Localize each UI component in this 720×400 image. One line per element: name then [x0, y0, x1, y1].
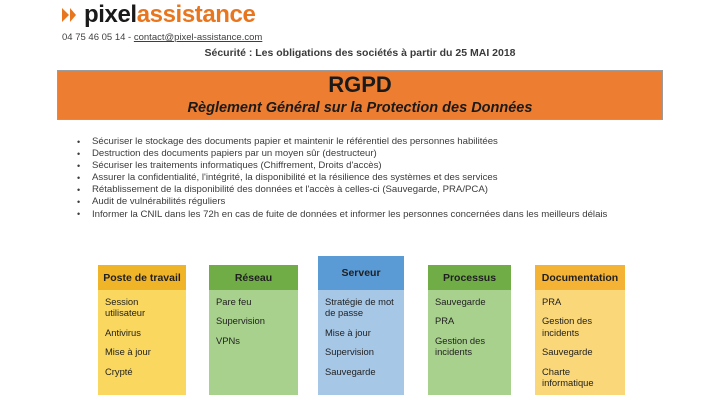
category-item: Supervision [325, 346, 397, 357]
category-column-body: Pare feuSupervisionVPNs [209, 290, 298, 395]
obligation-item: Sécuriser le stockage des documents papi… [74, 136, 674, 148]
phone-number: 04 75 46 05 14 [62, 32, 125, 43]
category-item: Mise à jour [105, 346, 179, 357]
category-column-body: Session utilisateurAntivirusMise à jourC… [98, 290, 186, 395]
category-column[interactable]: Poste de travailSession utilisateurAntiv… [98, 265, 186, 395]
rgpd-banner: RGPD Règlement Général sur la Protection… [57, 70, 663, 120]
category-item: Antivirus [105, 327, 179, 338]
category-item: PRA [542, 296, 618, 307]
category-item: Pare feu [216, 296, 291, 307]
contact-separator: - [125, 32, 133, 43]
logo-word-assistance: assistance [137, 1, 256, 28]
category-column-body: PRAGestion des incidentsSauvegardeCharte… [535, 290, 625, 395]
banner-subtitle: Règlement Général sur la Protection des … [188, 98, 533, 118]
category-item: Session utilisateur [105, 296, 179, 319]
obligation-item: Rétablissement de la disponibilité des d… [74, 184, 674, 196]
page-subtitle: Sécurité : Les obligations des sociétés … [0, 47, 720, 59]
category-item: PRA [435, 315, 504, 326]
contact-line: 04 75 46 05 14 - contact@pixel-assistanc… [62, 32, 482, 43]
category-item: Gestion des incidents [542, 315, 618, 338]
category-column-header: Réseau [209, 265, 298, 290]
logo[interactable]: pixelassistance [62, 2, 482, 28]
double-chevron-icon [62, 8, 77, 22]
category-column-body: SauvegardePRAGestion des incidents [428, 290, 511, 395]
category-item: Stratégie de mot de passe [325, 296, 397, 319]
category-item: Sauvegarde [325, 366, 397, 377]
brand-header: pixelassistance 04 75 46 05 14 - contact… [62, 2, 482, 43]
category-column[interactable]: ProcessusSauvegardePRAGestion des incide… [428, 265, 511, 395]
banner-title: RGPD [328, 73, 392, 97]
obligation-item: Destruction des documents papiers par un… [74, 148, 674, 160]
category-item: Sauvegarde [542, 346, 618, 357]
category-column[interactable]: DocumentationPRAGestion des incidentsSau… [535, 265, 625, 395]
email-link[interactable]: contact@pixel-assistance.com [134, 32, 262, 43]
category-column-header: Documentation [535, 265, 625, 290]
category-column[interactable]: RéseauPare feuSupervisionVPNs [209, 265, 298, 395]
obligation-item: Audit de vulnérabilités réguliers [74, 196, 674, 208]
category-item: Crypté [105, 366, 179, 377]
obligations-list: Sécuriser le stockage des documents papi… [74, 136, 674, 221]
category-column-header: Processus [428, 265, 511, 290]
category-item: VPNs [216, 335, 291, 346]
category-column[interactable]: ServeurStratégie de mot de passeMise à j… [318, 256, 404, 395]
logo-word-pixel: pixel [84, 1, 137, 28]
obligation-item: Assurer la confidentialité, l'intégrité,… [74, 172, 674, 184]
category-column-header: Poste de travail [98, 265, 186, 290]
obligation-item: Sécuriser les traitements informatiques … [74, 160, 674, 172]
category-item: Charte informatique [542, 366, 618, 389]
category-item: Mise à jour [325, 327, 397, 338]
category-item: Supervision [216, 315, 291, 326]
category-column-body: Stratégie de mot de passeMise à jourSupe… [318, 290, 404, 395]
category-item: Sauvegarde [435, 296, 504, 307]
category-item: Gestion des incidents [435, 335, 504, 358]
category-column-header: Serveur [318, 256, 404, 290]
obligation-item: Informer la CNIL dans les 72h en cas de … [74, 209, 674, 221]
